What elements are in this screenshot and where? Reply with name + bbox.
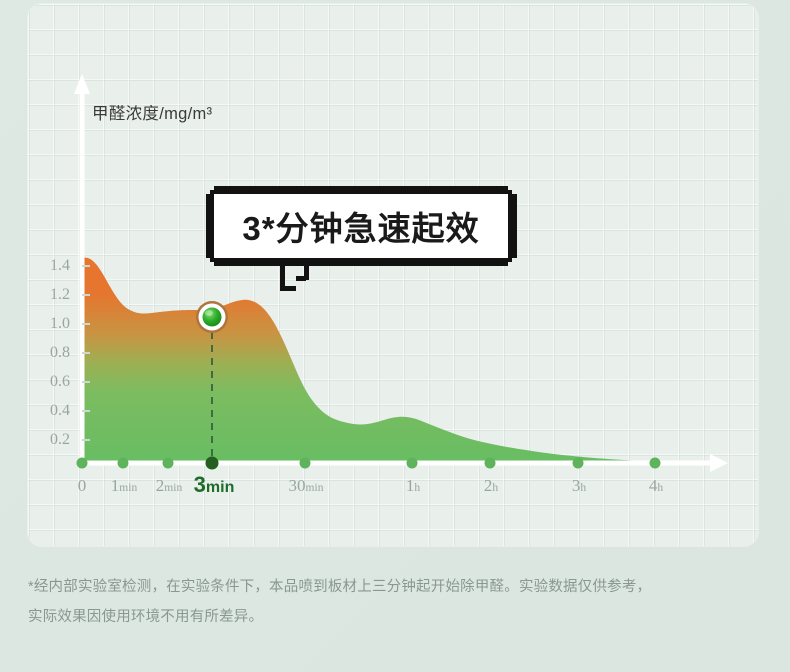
y-axis-label: 甲醛浓度/mg/m³ bbox=[92, 100, 212, 124]
area-series bbox=[82, 258, 692, 462]
x-tick-30min: 30min bbox=[289, 476, 324, 496]
callout-bubble: 3*分钟急速起效 bbox=[210, 190, 512, 262]
callout-box: 3*分钟急速起效 bbox=[210, 190, 512, 262]
x-tick-0: 0 bbox=[78, 476, 87, 496]
footnote-line-2: 实际效果因使用环境不用有所差异。 bbox=[28, 602, 768, 632]
highlight-marker[interactable] bbox=[196, 301, 228, 333]
x-axis-arrow bbox=[710, 454, 728, 472]
y-tick-1-0: 1.0 bbox=[28, 315, 70, 333]
callout-text: 3*分钟急速起效 bbox=[242, 202, 479, 250]
y-tick-1-2: 1.2 bbox=[28, 286, 70, 304]
x-tick-3h: 3h bbox=[572, 476, 586, 496]
y-tick-0-8: 0.8 bbox=[28, 344, 70, 362]
formaldehyde-decay-chart: 甲醛浓度/mg/m³ 1.4 1.2 1.0 0.8 0.6 0.4 0.2 0… bbox=[28, 4, 758, 546]
x-tick-3min-highlight: 3min bbox=[194, 472, 235, 498]
x-tick-2h: 2h bbox=[484, 476, 498, 496]
callout-edge-left bbox=[206, 194, 210, 258]
footnote-line-1: *经内部实验室检测，在实验条件下，本品喷到板材上三分钟起开始除甲醛。实验数据仅供… bbox=[28, 572, 768, 602]
y-tick-1-4: 1.4 bbox=[28, 257, 70, 275]
x-tick-2min: 2min bbox=[156, 476, 182, 496]
y-tick-0-4: 0.4 bbox=[28, 402, 70, 420]
x-tick-4h: 4h bbox=[649, 476, 663, 496]
x-tick-1h: 1h bbox=[406, 476, 420, 496]
chart-svg bbox=[28, 4, 758, 546]
x-axis-dot-highlight bbox=[206, 457, 219, 470]
callout-tail-bottom bbox=[280, 286, 296, 291]
footnote: *经内部实验室检测，在实验条件下，本品喷到板材上三分钟起开始除甲醛。实验数据仅供… bbox=[28, 572, 768, 632]
callout-edge-top bbox=[214, 186, 508, 190]
callout-tail-step bbox=[296, 276, 306, 281]
callout-edge-bottom bbox=[214, 262, 508, 266]
callout-edge-right bbox=[512, 194, 517, 258]
y-axis-arrow bbox=[74, 74, 90, 94]
x-tick-1min: 1min bbox=[111, 476, 137, 496]
y-tick-0-6: 0.6 bbox=[28, 373, 70, 391]
y-tick-0-2: 0.2 bbox=[28, 431, 70, 449]
page-background: 甲醛浓度/mg/m³ 1.4 1.2 1.0 0.8 0.6 0.4 0.2 0… bbox=[0, 0, 790, 672]
chart-card: 甲醛浓度/mg/m³ 1.4 1.2 1.0 0.8 0.6 0.4 0.2 0… bbox=[28, 4, 758, 546]
